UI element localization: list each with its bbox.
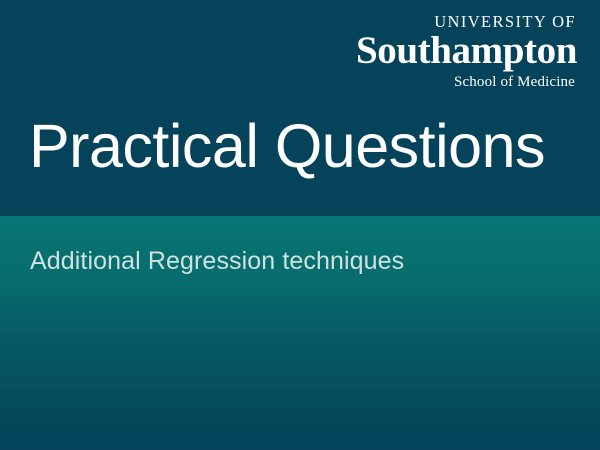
university-logo: UNIVERSITY OF Southampton School of Medi… [317,14,577,90]
logo-faculty-line: School of Medicine [317,75,577,90]
slide-title: Practical Questions [29,114,574,180]
title-slide: UNIVERSITY OF Southampton School of Medi… [0,0,600,450]
slide-subtitle: Additional Regression techniques [30,247,575,276]
logo-wordmark: Southampton [317,32,577,70]
